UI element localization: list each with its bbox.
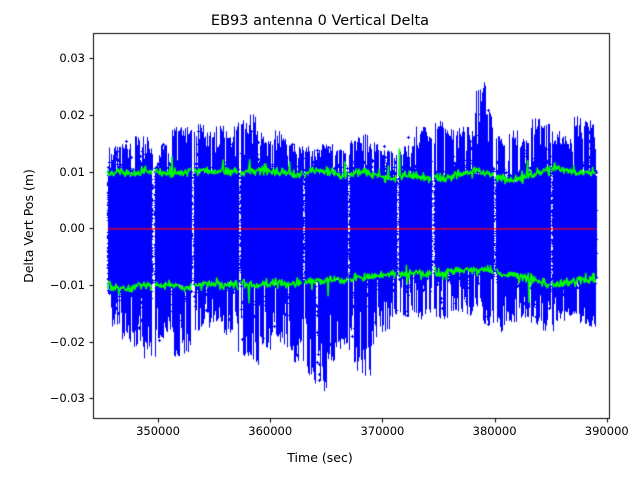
y-tick-label: −0.01 xyxy=(35,279,85,291)
x-tick-label: 390000 xyxy=(562,425,640,437)
x-axis-label: Time (sec) xyxy=(0,450,640,466)
x-tick-label: 370000 xyxy=(337,425,427,437)
y-tick-label: 0.02 xyxy=(35,109,85,121)
y-tick-label: −0.02 xyxy=(35,336,85,348)
page-title: EB93 antenna 0 Vertical Delta xyxy=(0,12,640,30)
scatter-plot-canvas xyxy=(0,0,640,480)
figure-canvas-container: EB93 antenna 0 Vertical Delta Time (sec)… xyxy=(0,0,640,480)
y-tick-label: 0.00 xyxy=(35,222,85,234)
x-tick-label: 350000 xyxy=(113,425,203,437)
y-tick-label: −0.03 xyxy=(35,392,85,404)
y-tick-label: 0.01 xyxy=(35,166,85,178)
y-tick-label: 0.03 xyxy=(35,52,85,64)
x-tick-label: 360000 xyxy=(225,425,315,437)
x-tick-label: 380000 xyxy=(450,425,540,437)
